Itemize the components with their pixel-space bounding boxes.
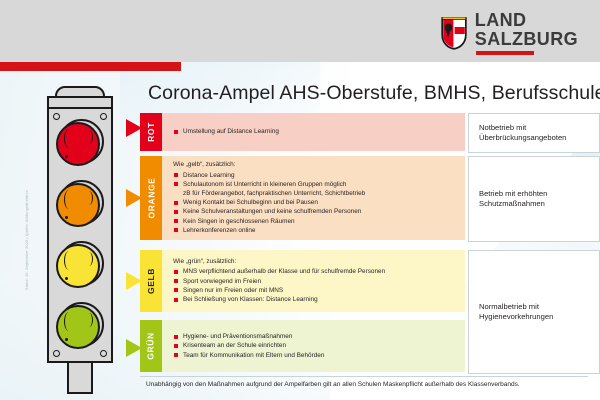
row-tab-label-gruen: GRÜN	[146, 332, 156, 359]
row-panel-gruen: Hygiene- und Präventionsmaßnahmen Krisen…	[162, 320, 465, 372]
row-tab-gruen: GRÜN	[140, 320, 162, 372]
bullet-item: Distance Learning	[173, 171, 457, 180]
ampel-screw	[100, 113, 107, 120]
status-line-2: Hygienevorkehrungen	[479, 312, 553, 321]
row-tab-rot: ROT	[140, 113, 162, 151]
bullet-item: Keine Schulveranstaltungen und keine sch…	[173, 207, 457, 216]
row-gelb: GELB Wie „grün“, zusätzlich: MNS verpfli…	[140, 250, 465, 312]
lamp-orange	[56, 180, 100, 224]
row-panel-rot: Umstellung auf Distance Learning	[162, 113, 465, 151]
header-red-stripe	[0, 62, 181, 71]
salzburg-coat-of-arms-icon	[441, 17, 467, 50]
bullet-item: Krisenteam an der Schule einrichten	[173, 341, 457, 350]
row-panel-gelb: Wie „grün“, zusätzlich: MNS verpflichten…	[162, 250, 465, 312]
status-box-rot: Notbetrieb mit Überbrückungsangeboten	[468, 113, 600, 153]
row-tab-label-gelb: GELB	[146, 268, 156, 294]
row-panel-orange: Wie „gelb“, zusätzlich: Distance Learnin…	[162, 156, 465, 240]
bullet-list-rot: Umstellung auf Distance Learning	[173, 127, 457, 136]
row-tab-label-rot: ROT	[146, 122, 156, 142]
status-line-1: Notbetrieb mit	[479, 123, 526, 132]
bullet-list-gelb: MNS verpflichtend außerhalb der Klasse u…	[173, 267, 457, 304]
bullet-item: Hygiene- und Präventionsmaßnahmen	[173, 332, 457, 341]
bullet-item: Bei Schließung von Klassen: Distance Lea…	[173, 295, 457, 304]
footer-note: Unabhängig von den Maßnahmen aufgrund de…	[146, 381, 592, 388]
status-line-2: Schutzmaßnahmen	[479, 199, 545, 208]
bullet-item: MNS verpflichtend außerhalb der Klasse u…	[173, 267, 457, 276]
lamp-red	[56, 119, 100, 163]
bullet-continuation: zB für Förderangebot, fachpraktischen Un…	[173, 189, 457, 198]
row-tab-label-orange: ORANGE	[146, 178, 156, 219]
footer-divider	[140, 376, 588, 377]
row-rot: ROT Umstellung auf Distance Learning	[140, 113, 465, 151]
bullet-list-orange: Distance Learning Schulautonom ist Unter…	[173, 171, 457, 235]
logo-line-1: LAND	[475, 11, 578, 29]
row-lead-gelb: Wie „grün“, zusätzlich:	[173, 258, 457, 265]
land-salzburg-logo: LAND SALZBURG	[441, 11, 578, 55]
bullet-item: Kein Singen in geschlossenen Räumen	[173, 217, 457, 226]
status-line-1: Normalbetrieb mit	[479, 302, 539, 311]
status-line-2: Überbrückungsangeboten	[479, 133, 566, 142]
bullet-item: Sport vorwiegend im Freien	[173, 277, 457, 286]
bullet-item: Team für Kommunikation mit Eltern und Be…	[173, 351, 457, 360]
page-title: Corona-Ampel AHS-Oberstufe, BMHS, Berufs…	[148, 82, 588, 105]
logo-line-2: SALZBURG	[475, 30, 578, 48]
bullet-item: Singen nur im Freien oder mit MNS	[173, 286, 457, 295]
status-box-normal: Normalbetrieb mit Hygienevorkehrungen	[468, 250, 600, 374]
bullet-item: Schulautonom ist Unterricht in kleineren…	[173, 180, 457, 189]
row-lead-orange: Wie „gelb“, zusätzlich:	[173, 161, 457, 168]
bullet-item: Umstellung auf Distance Learning	[173, 127, 457, 136]
row-gruen: GRÜN Hygiene- und Präventionsmaßnahmen K…	[140, 320, 465, 372]
row-tab-gelb: GELB	[140, 250, 162, 312]
ampel-screw	[53, 350, 60, 357]
ampel-housing	[47, 107, 113, 363]
bullet-list-gruen: Hygiene- und Präventionsmaßnahmen Krisen…	[173, 332, 457, 360]
lamp-green	[56, 302, 100, 346]
logo-underline	[476, 51, 534, 55]
bullet-item: Wenig Kontakt bei Schulbeginn und bei Pa…	[173, 198, 457, 207]
bullet-item: Lehrerkonferenzen online	[173, 226, 457, 235]
ampel-graphic	[26, 86, 138, 392]
status-line-1: Betrieb mit erhöhten	[479, 189, 547, 198]
row-tab-orange: ORANGE	[140, 156, 162, 240]
ampel-screw	[100, 350, 107, 357]
infographic-canvas: LAND SALZBURG Corona-Ampel AHS-Oberstufe…	[0, 0, 600, 400]
status-box-orange: Betrieb mit erhöhten Schutzmaßnahmen	[468, 156, 600, 242]
lamp-yellow	[56, 241, 100, 285]
row-orange: ORANGE Wie „gelb“, zusätzlich: Distance …	[140, 156, 465, 240]
